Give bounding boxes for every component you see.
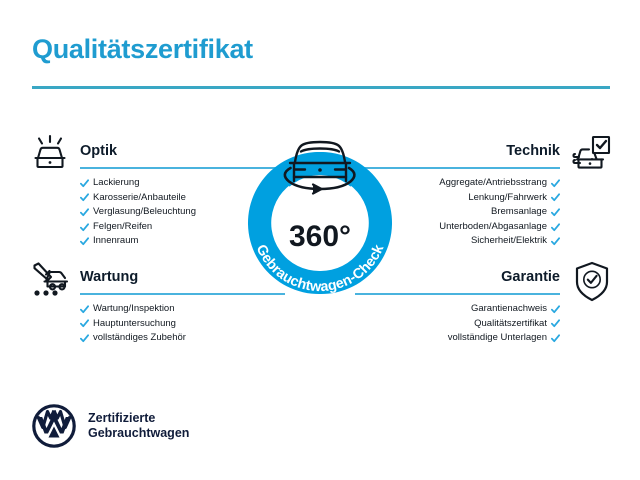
list-item-label: Karosserie/Anbauteile [93,191,186,206]
check-icon [551,319,560,328]
list-item-label: Unterboden/Abgasanlage [439,220,547,235]
list-item-label: Hauptuntersuchung [93,317,176,332]
check-icon [80,208,89,217]
shield-check-icon [572,260,612,304]
check-icon [551,334,560,343]
list-item-label: vollständige Unterlagen [448,331,547,346]
check-icon [80,237,89,246]
check-icon [551,223,560,232]
brand-footer: Zertifizierte Gebrauchtwagen [32,404,189,448]
check-icon [551,305,560,314]
brand-footer-text: Zertifizierte Gebrauchtwagen [88,411,189,441]
list-item: Qualitätszertifikat [355,317,560,332]
list-item: vollständige Unterlagen [355,331,560,346]
list-item-label: Lenkung/Fahrwerk [468,191,547,206]
list-item-label: Lackierung [93,176,139,191]
list-item: Hauptuntersuchung [80,317,285,332]
check-icon [80,334,89,343]
list-item-label: Bremsanlage [491,205,547,220]
car-front-shine-icon [28,134,72,174]
list-item-label: Garantienachweis [471,302,547,317]
badge-center-label: 360° [289,220,351,253]
check-icon [80,305,89,314]
check-icon [551,208,560,217]
page-title: Qualitätszertifikat [32,34,253,65]
volkswagen-logo [32,404,76,448]
check-icon [80,193,89,202]
list-item-label: Wartung/Inspektion [93,302,175,317]
list-item-label: Aggregate/Antriebsstrang [439,176,547,191]
list-item-label: Verglasung/Beleuchtung [93,205,196,220]
check-icon [551,193,560,202]
list-item-label: Sicherheit/Elektrik [471,234,547,249]
car-checkbox-icon [568,134,612,174]
car-service-wrench-icon [28,260,72,300]
check-icon [80,319,89,328]
check-icon [551,237,560,246]
badge-360-gebrauchtwagen-check: 360° Gebrauchtwagen-Check [233,122,407,308]
list-item-label: vollständiges Zubehör [93,331,186,346]
check-icon [80,223,89,232]
brand-footer-line2: Gebrauchtwagen [88,426,189,441]
list-item-label: Qualitätszertifikat [474,317,547,332]
list-item-label: Innenraum [93,234,138,249]
section-list-garantie: Garantienachweis Qualitätszertifikat vol… [355,302,560,346]
brand-footer-line1: Zertifizierte [88,411,189,426]
check-icon [551,179,560,188]
section-list-wartung: Wartung/Inspektion Hauptuntersuchung vol… [80,302,285,346]
list-item-label: Felgen/Reifen [93,220,152,235]
check-icon [80,179,89,188]
certificate-page: Qualitätszertifikat Optik Lackierung Kar… [0,0,640,480]
title-divider [32,86,610,89]
list-item: vollständiges Zubehör [80,331,285,346]
